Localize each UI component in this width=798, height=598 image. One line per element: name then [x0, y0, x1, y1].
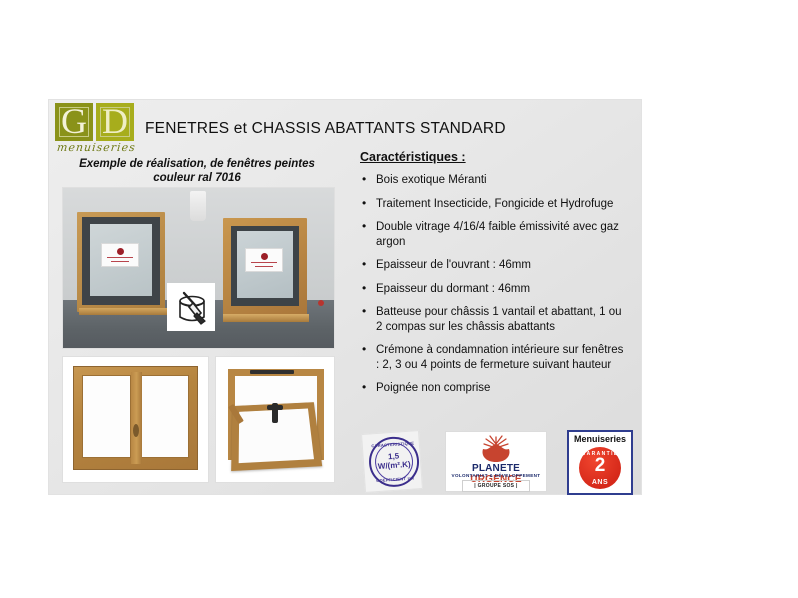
thermal-coefficient-badge: CARACTERISTIQUE 1,5 W/(m².K) COEFFICIENT… — [361, 430, 423, 493]
window-sample-grey — [77, 212, 165, 312]
tilt-window-handle — [272, 403, 278, 423]
decor-plant — [318, 300, 324, 306]
page-title: FENETRES et CHASSIS ABATTANTS STANDARD — [145, 120, 615, 138]
tilt-window-hinge — [250, 370, 294, 374]
features-heading: Caractéristiques : — [360, 150, 628, 164]
feature-item: Epaisseur du dormant : 46mm — [360, 282, 628, 297]
photo-casement-window — [62, 356, 209, 483]
tilt-window — [216, 357, 334, 482]
features-list: Bois exotique Méranti Traitement Insecti… — [360, 173, 628, 396]
logo-square-g: G — [55, 103, 93, 141]
window-sample-wood — [223, 218, 307, 318]
warranty-number: 2 — [579, 456, 621, 476]
warranty-circle: GARANTIE 2 ANS — [579, 447, 621, 489]
card-text-line — [107, 257, 133, 259]
planete-urgence-tagline: VOLONTARIAT & DÉVELOPPEMENT — [446, 473, 546, 478]
gd-logo: G D menuiseries — [53, 103, 145, 155]
card-logo-dot — [261, 253, 268, 260]
logo-letter-d: D — [96, 101, 134, 143]
warranty-unit: ANS — [579, 479, 621, 486]
card-text-line — [255, 266, 274, 268]
window-sash-right — [140, 375, 189, 458]
window-sash-left — [82, 375, 131, 458]
casement-window — [73, 366, 198, 470]
certification-logos: CARACTERISTIQUE 1,5 W/(m².K) COEFFICIENT… — [361, 431, 631, 491]
thermal-ring-bottom-text: COEFFICIENT Uw — [372, 475, 418, 483]
groupe-sos-label: | GROUPE SOS | — [462, 480, 530, 492]
slide-canvas: G D menuiseries FENETRES et CHASSIS ABAT… — [49, 100, 641, 494]
photo-showroom-painted-windows — [62, 187, 335, 349]
feature-item: Batteuse pour châssis 1 vantail et abatt… — [360, 305, 628, 334]
warranty-badge: Menuiseries GARANTIE 2 ANS — [567, 430, 633, 495]
photo-caption-line-2: couleur ral 7016 — [61, 171, 333, 185]
window-sill — [79, 308, 169, 315]
window-info-card — [101, 243, 139, 267]
window-handle — [133, 424, 139, 437]
features-section: Caractéristiques : Bois exotique Méranti… — [360, 150, 628, 405]
logo-square-d: D — [96, 103, 134, 141]
feature-item: Epaisseur de l'ouvrant : 46mm — [360, 258, 628, 273]
logo-wordmark: menuiseries — [56, 141, 136, 154]
feature-item: Crémone à condamnation intérieure sur fe… — [360, 343, 628, 372]
window-sill — [223, 314, 309, 322]
feature-item: Traitement Insecticide, Fongicide et Hyd… — [360, 197, 628, 212]
planete-urgence-logo: PLANETE URGENCE VOLONTARIAT & DÉVELOPPEM… — [445, 431, 547, 492]
paint-can-brush-icon — [167, 283, 215, 331]
window-info-card — [245, 248, 283, 272]
tree-icon — [479, 435, 513, 463]
card-text-line — [251, 262, 277, 264]
logo-letter-g: G — [55, 101, 93, 143]
photo-tilt-window — [215, 356, 335, 483]
window-mullion — [131, 372, 142, 464]
pendant-lamp — [190, 191, 206, 221]
photo-caption-line-1: Exemple de réalisation, de fenêtres pein… — [61, 157, 333, 171]
warranty-title: Menuiseries — [569, 434, 631, 444]
card-logo-dot — [117, 248, 124, 255]
thermal-value: 1,5 W/(m².K) — [370, 450, 417, 471]
card-text-line — [111, 261, 130, 263]
feature-item: Bois exotique Méranti — [360, 173, 628, 188]
thermal-stamp-ring: CARACTERISTIQUE 1,5 W/(m².K) COEFFICIENT… — [367, 435, 420, 488]
photo-caption: Exemple de réalisation, de fenêtres pein… — [61, 157, 333, 185]
feature-item: Double vitrage 4/16/4 faible émissivité … — [360, 220, 628, 249]
feature-item: Poignée non comprise — [360, 381, 628, 396]
